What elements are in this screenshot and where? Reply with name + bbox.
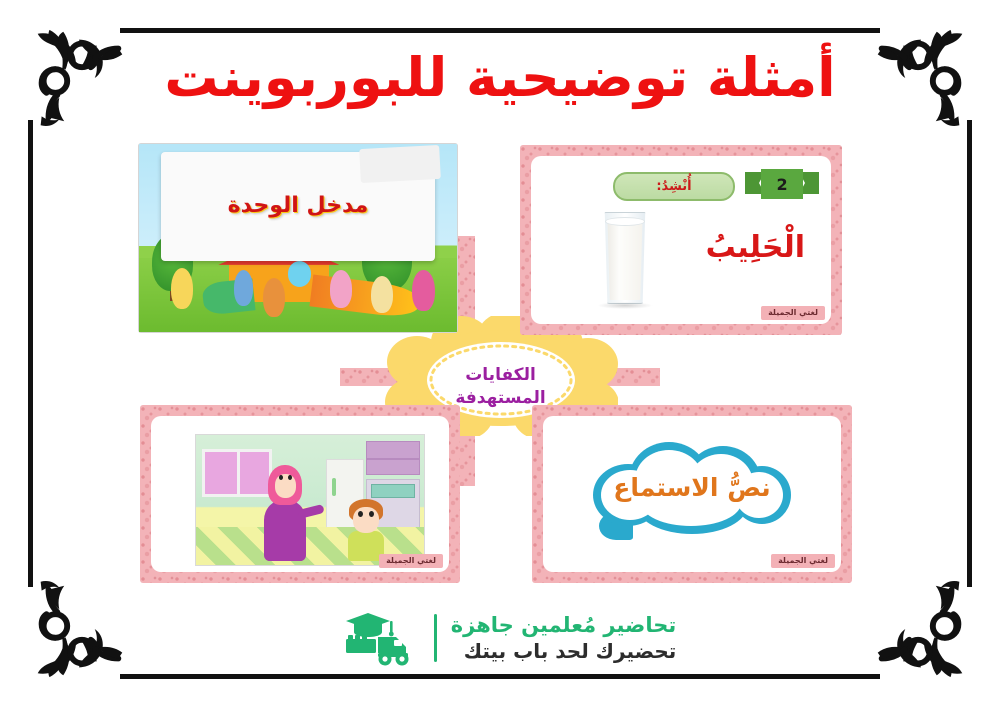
footer-text: تحاضير مُعلمين جاهزة تحضيرك لحد باب بيتك (451, 612, 676, 663)
slide-card-listening-text[interactable]: نصُّ الاستماع لغتي الجميلة (532, 405, 852, 583)
slide-card-kitchen[interactable]: لغتي الجميلة (140, 405, 460, 583)
delivery-truck-graduation-cap-icon (324, 609, 420, 667)
slide-card-milk[interactable]: أُنْشِدُ: 2 الْحَلِيبُ لغتي الجميلة (520, 145, 842, 335)
lesson-number: 2 (761, 169, 803, 199)
kitchen-slide-content: لغتي الجميلة (151, 416, 449, 572)
speech-cloud-icon: نصُّ الاستماع (593, 442, 791, 534)
page-title: أمثلة توضيحية للبوربوينت (0, 48, 1000, 107)
unit-intro-heading: مدخل الوحدة (161, 193, 434, 218)
recite-pill-label: أُنْشِدُ: (613, 172, 735, 201)
child-figure (234, 270, 253, 306)
frame-line-right (967, 120, 972, 587)
playground-scene: مدخل الوحدة (138, 143, 458, 333)
milk-word-heading: الْحَلِيبُ (706, 230, 805, 265)
slide-tagline: لغتي الجميلة (379, 554, 443, 568)
footer-divider (434, 614, 437, 662)
child-figure (371, 276, 393, 314)
paper-sheet: مدخل الوحدة (161, 152, 434, 261)
footer-line-1: تحاضير مُعلمين جاهزة (451, 612, 676, 638)
slide-tagline: لغتي الجميلة (771, 554, 835, 568)
frame-line-left (28, 120, 33, 587)
listening-slide-content: نصُّ الاستماع لغتي الجميلة (543, 416, 841, 572)
child-figure (412, 270, 434, 311)
child-figure (171, 268, 193, 309)
mother-figure (262, 465, 308, 561)
listening-text-label: نصُّ الاستماع (593, 442, 791, 534)
lesson-number-ribbon: 2 (745, 169, 819, 199)
frame-line-bottom (120, 674, 880, 679)
frame-line-top (120, 28, 880, 33)
competencies-line-1: الكفايات (465, 364, 536, 387)
footer-line-2: تحضيرك لحد باب بيتك (451, 639, 676, 664)
child-figure (263, 278, 285, 317)
slide-card-unit-intro[interactable]: مدخل الوحدة (138, 143, 458, 333)
cabinet-icon (366, 441, 420, 475)
child-figure (330, 270, 352, 308)
kitchen-scene (195, 434, 425, 566)
glass-of-milk-icon (603, 212, 647, 304)
boy-figure (346, 499, 386, 561)
slide-tagline: لغتي الجميلة (761, 306, 825, 320)
footer-brand: تحاضير مُعلمين جاهزة تحضيرك لحد باب بيتك (0, 609, 1000, 667)
milk-slide-content: أُنْشِدُ: 2 الْحَلِيبُ لغتي الجميلة (531, 156, 831, 324)
